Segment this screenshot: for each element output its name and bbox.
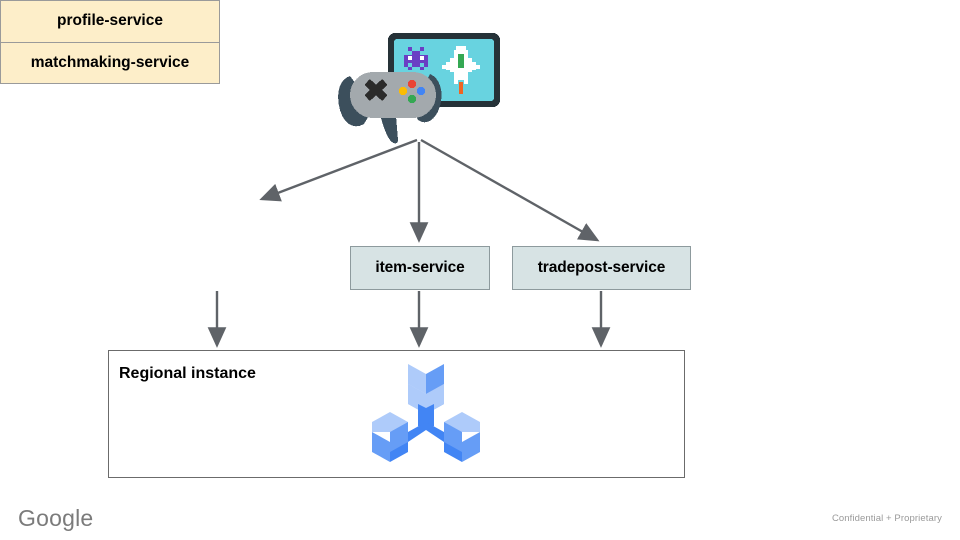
arrow-client-to-tradepost xyxy=(421,140,597,240)
gke-kubernetes-engine-icon xyxy=(368,360,484,470)
google-wordmark: Google xyxy=(18,505,93,532)
rocket-flame xyxy=(459,82,463,94)
button-yellow xyxy=(399,87,407,95)
button-red xyxy=(408,80,416,88)
service-box-item-service[interactable]: item-service xyxy=(350,246,490,290)
game-controller-and-monitor-icon xyxy=(336,28,508,148)
button-green xyxy=(408,95,416,103)
gke-link-bottom-right xyxy=(426,422,444,442)
slide-canvas: profile-service matchmaking-service item… xyxy=(0,0,960,540)
confidential-footer-text: Confidential + Proprietary xyxy=(832,513,942,524)
controller-body xyxy=(350,72,436,118)
regional-instance-label: Regional instance xyxy=(119,365,256,383)
gke-prong-bottom-left-a xyxy=(372,432,390,462)
service-box-tradepost-service[interactable]: tradepost-service xyxy=(512,246,691,290)
arrow-client-to-profile xyxy=(262,140,417,199)
button-blue xyxy=(417,87,425,95)
gke-prong-bottom-right-a xyxy=(462,432,480,462)
rocket-window xyxy=(458,54,464,68)
gke-link-bottom-left xyxy=(408,422,426,442)
